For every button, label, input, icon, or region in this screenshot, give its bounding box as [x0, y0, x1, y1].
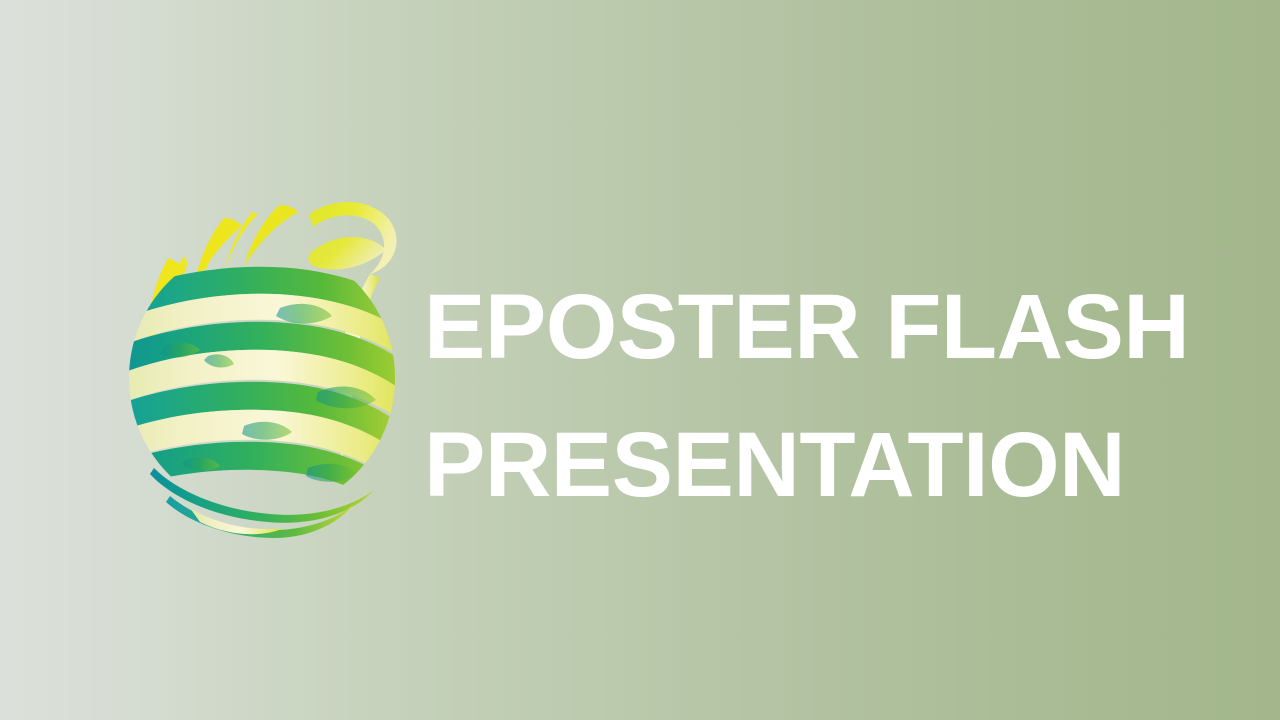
band-4 — [88, 442, 424, 536]
globe-bands — [88, 267, 424, 536]
leaf-hook-inner — [308, 237, 386, 270]
title-line-2: PRESENTATION — [424, 396, 1224, 534]
globe-ribbon-logo — [112, 196, 412, 521]
slide-title: EPOSTER FLASH PRESENTATION — [424, 258, 1224, 534]
title-slide: EPOSTER FLASH PRESENTATION — [0, 0, 1280, 720]
title-line-1: EPOSTER FLASH — [424, 258, 1224, 396]
